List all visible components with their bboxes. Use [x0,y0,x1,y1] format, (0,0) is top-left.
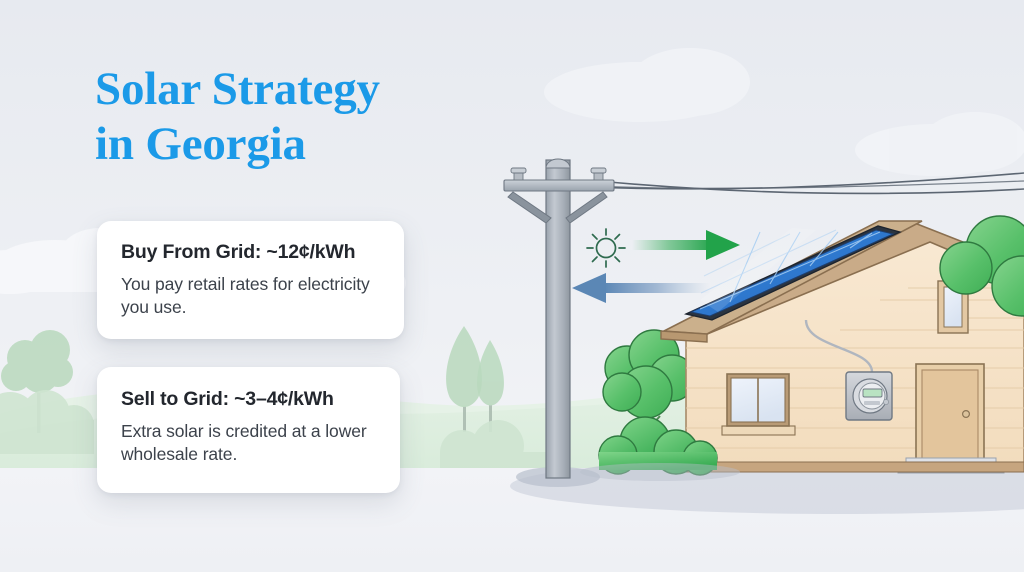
card-sell-body: Extra solar is credited at a lower whole… [121,420,378,466]
electric-meter [846,372,892,420]
title-line-2: in Georgia [95,117,525,172]
pole-crossarm [504,180,614,191]
front-door [916,364,984,470]
window [722,374,795,435]
card-sell-heading: Sell to Grid: ~3–4¢/kWh [121,388,378,411]
page-title: Solar Strategy in Georgia [95,62,525,171]
card-buy-from-grid[interactable]: Buy From Grid: ~12¢/kWh You pay retail r… [97,221,404,339]
card-buy-heading: Buy From Grid: ~12¢/kWh [121,241,382,264]
infographic-canvas: Solar Strategy in Georgia Buy From Grid:… [0,0,1024,572]
bush-shadow [580,463,740,481]
title-line-1: Solar Strategy [95,63,380,115]
card-sell-to-grid[interactable]: Sell to Grid: ~3–4¢/kWh Extra solar is c… [97,367,400,493]
card-buy-body: You pay retail rates for electricity you… [121,273,382,319]
door-knob [963,411,970,418]
